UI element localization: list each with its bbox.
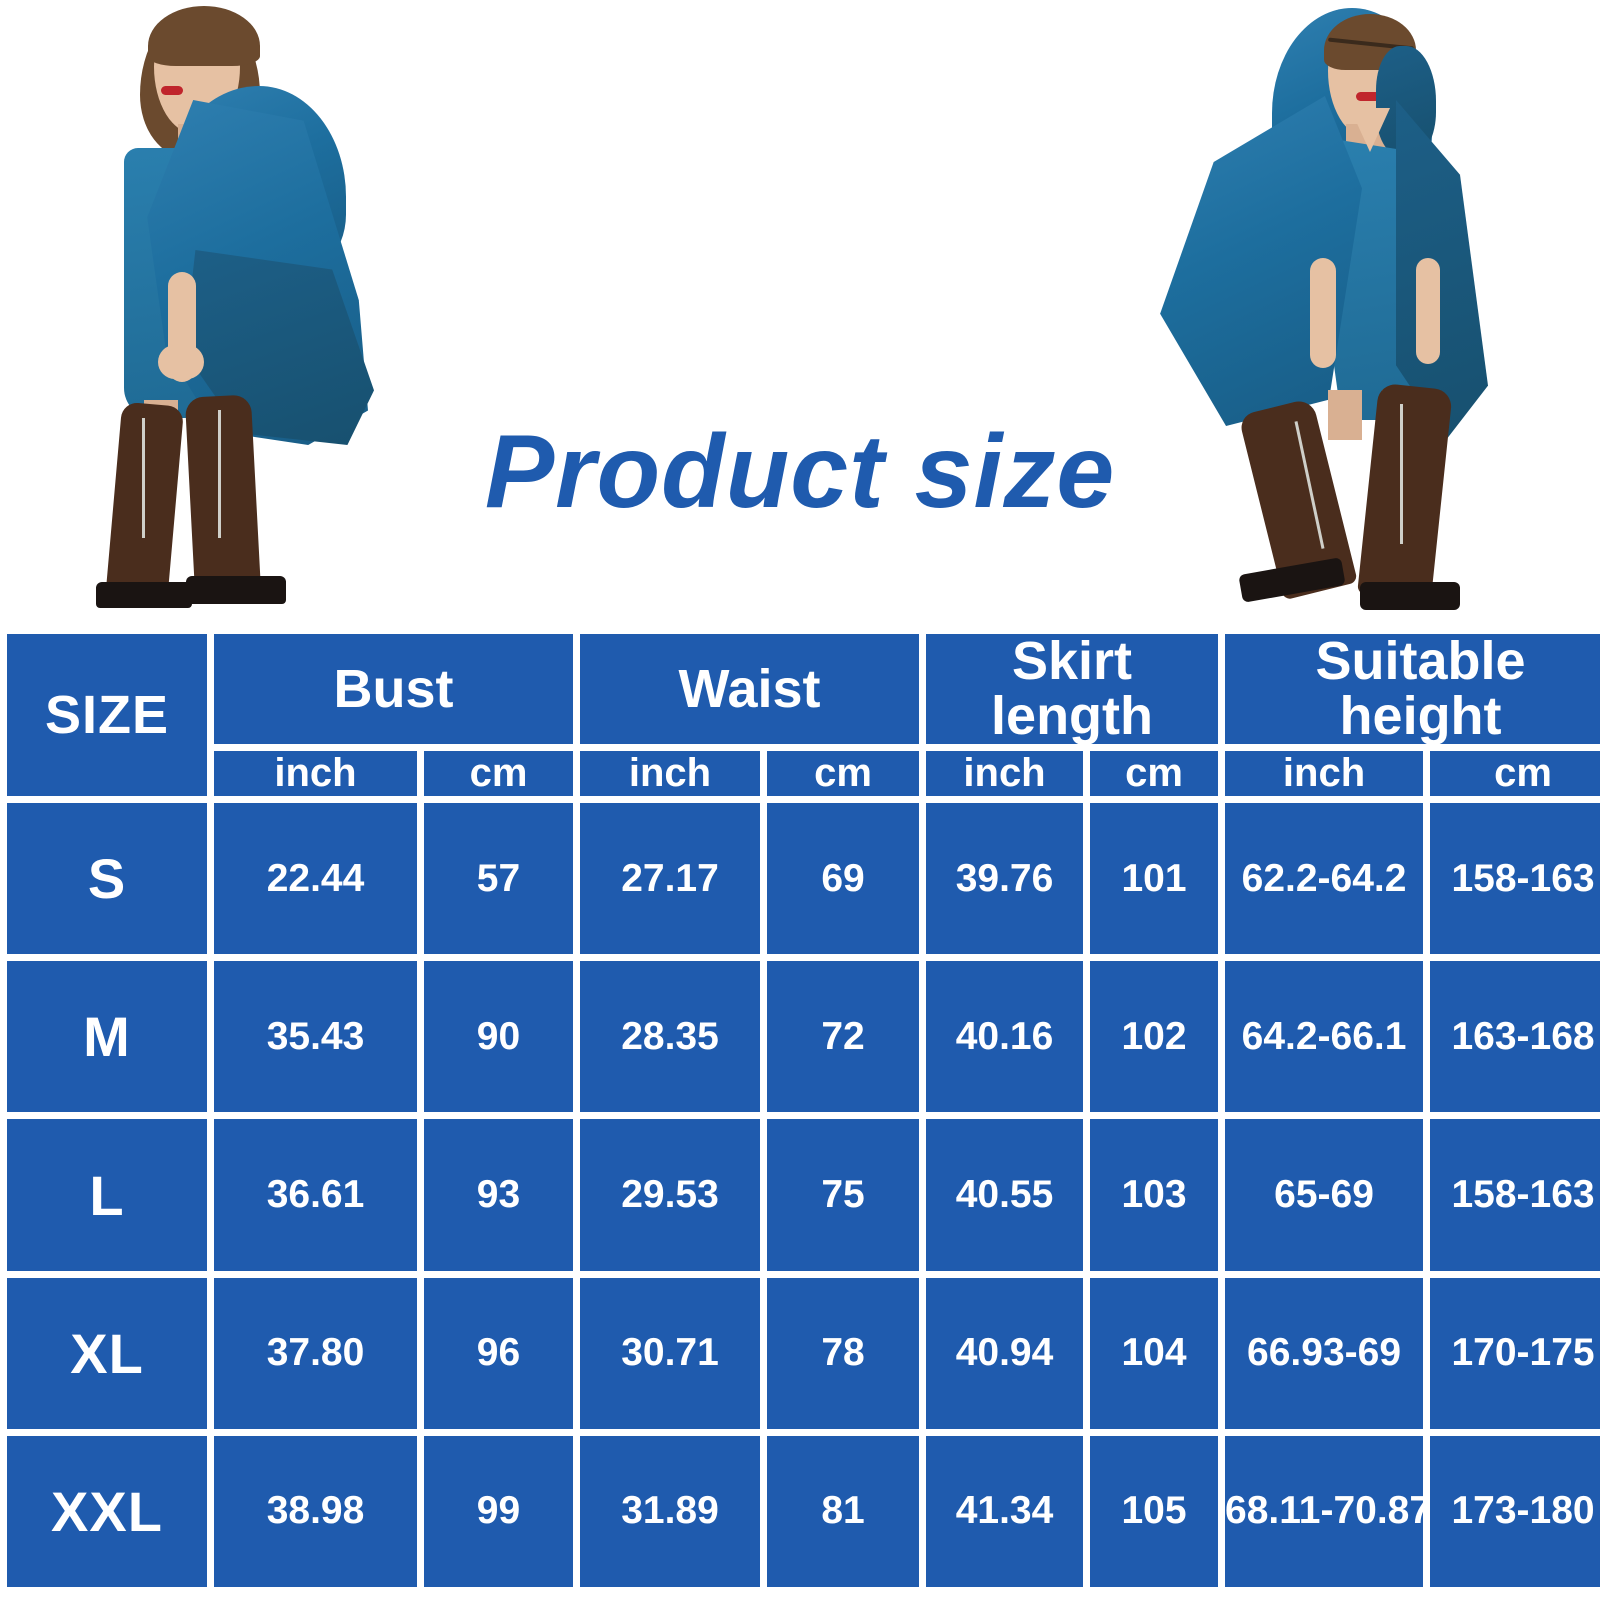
table-header: SIZE Bust Waist Skirt length Suitable he… — [7, 634, 1600, 796]
cell-height-inch: 68.11-70.87 — [1225, 1436, 1423, 1587]
header-group-bust: Bust — [214, 634, 573, 744]
model-photo-left — [62, 0, 402, 627]
cell-skirt-inch: 39.76 — [926, 803, 1083, 954]
size-chart-table-wrapper: SIZE Bust Waist Skirt length Suitable he… — [0, 627, 1600, 1594]
header-suitable-height-line1: Suitable — [1316, 631, 1526, 691]
cell-bust-cm: 93 — [424, 1119, 573, 1270]
cell-skirt-cm: 103 — [1090, 1119, 1218, 1270]
cell-height-cm: 158-163 — [1430, 1119, 1600, 1270]
model-photo-right — [1132, 0, 1472, 627]
header-unit-skirt-cm: cm — [1090, 751, 1218, 796]
table-row: M 35.43 90 28.35 72 40.16 102 64.2-66.1 … — [7, 961, 1600, 1112]
cell-height-inch: 64.2-66.1 — [1225, 961, 1423, 1112]
cell-skirt-inch: 40.16 — [926, 961, 1083, 1112]
header-unit-skirt-inch: inch — [926, 751, 1083, 796]
header-group-skirt-length: Skirt length — [926, 634, 1218, 744]
header-group-waist: Waist — [580, 634, 919, 744]
header-size: SIZE — [7, 634, 207, 796]
header-unit-bust-cm: cm — [424, 751, 573, 796]
cell-bust-inch: 38.98 — [214, 1436, 417, 1587]
header-suitable-height-line2: height — [1340, 686, 1502, 746]
table-row: L 36.61 93 29.53 75 40.55 103 65-69 158-… — [7, 1119, 1600, 1270]
cell-skirt-cm: 105 — [1090, 1436, 1218, 1587]
cell-skirt-inch: 40.55 — [926, 1119, 1083, 1270]
cell-skirt-cm: 101 — [1090, 803, 1218, 954]
cell-waist-cm: 69 — [767, 803, 919, 954]
cell-height-cm: 163-168 — [1430, 961, 1600, 1112]
cell-height-inch: 66.93-69 — [1225, 1278, 1423, 1429]
cell-skirt-cm: 104 — [1090, 1278, 1218, 1429]
header-group-suitable-height: Suitable height — [1225, 634, 1600, 744]
cell-bust-inch: 22.44 — [214, 803, 417, 954]
cell-bust-cm: 96 — [424, 1278, 573, 1429]
cell-size: L — [7, 1119, 207, 1270]
cell-height-inch: 62.2-64.2 — [1225, 803, 1423, 954]
table-body: S 22.44 57 27.17 69 39.76 101 62.2-64.2 … — [7, 803, 1600, 1587]
cell-height-cm: 173-180 — [1430, 1436, 1600, 1587]
cell-waist-inch: 28.35 — [580, 961, 760, 1112]
header-unit-waist-cm: cm — [767, 751, 919, 796]
cell-waist-inch: 29.53 — [580, 1119, 760, 1270]
cell-bust-inch: 37.80 — [214, 1278, 417, 1429]
cell-skirt-cm: 102 — [1090, 961, 1218, 1112]
cell-waist-cm: 72 — [767, 961, 919, 1112]
table-row: S 22.44 57 27.17 69 39.76 101 62.2-64.2 … — [7, 803, 1600, 954]
cell-size: XXL — [7, 1436, 207, 1587]
cell-size: M — [7, 961, 207, 1112]
header-unit-waist-inch: inch — [580, 751, 760, 796]
cell-skirt-inch: 41.34 — [926, 1436, 1083, 1587]
cell-waist-cm: 75 — [767, 1119, 919, 1270]
cell-bust-inch: 36.61 — [214, 1119, 417, 1270]
header-unit-height-inch: inch — [1225, 751, 1423, 796]
header-row-groups: SIZE Bust Waist Skirt length Suitable he… — [7, 634, 1600, 744]
cell-skirt-inch: 40.94 — [926, 1278, 1083, 1429]
cell-waist-inch: 27.17 — [580, 803, 760, 954]
cell-height-cm: 170-175 — [1430, 1278, 1600, 1429]
cell-height-cm: 158-163 — [1430, 803, 1600, 954]
cell-bust-cm: 57 — [424, 803, 573, 954]
size-chart-table: SIZE Bust Waist Skirt length Suitable he… — [0, 627, 1600, 1594]
header-skirt-length-line2: length — [991, 686, 1153, 746]
hero-photo-band: Product size — [0, 0, 1600, 627]
cell-waist-inch: 30.71 — [580, 1278, 760, 1429]
cell-waist-cm: 78 — [767, 1278, 919, 1429]
page-title: Product size — [0, 418, 1600, 527]
product-size-chart-page: Product size SIZE Bust Waist Skirt lengt… — [0, 0, 1600, 1600]
cell-size: XL — [7, 1278, 207, 1429]
header-row-units: inch cm inch cm inch cm inch cm — [7, 751, 1600, 796]
header-unit-height-cm: cm — [1430, 751, 1600, 796]
header-skirt-length-line1: Skirt — [1012, 631, 1132, 691]
header-unit-bust-inch: inch — [214, 751, 417, 796]
cell-height-inch: 65-69 — [1225, 1119, 1423, 1270]
cell-bust-inch: 35.43 — [214, 961, 417, 1112]
cell-waist-inch: 31.89 — [580, 1436, 760, 1587]
cell-size: S — [7, 803, 207, 954]
cell-bust-cm: 99 — [424, 1436, 573, 1587]
cell-bust-cm: 90 — [424, 961, 573, 1112]
cell-waist-cm: 81 — [767, 1436, 919, 1587]
table-row: XXL 38.98 99 31.89 81 41.34 105 68.11-70… — [7, 1436, 1600, 1587]
table-row: XL 37.80 96 30.71 78 40.94 104 66.93-69 … — [7, 1278, 1600, 1429]
